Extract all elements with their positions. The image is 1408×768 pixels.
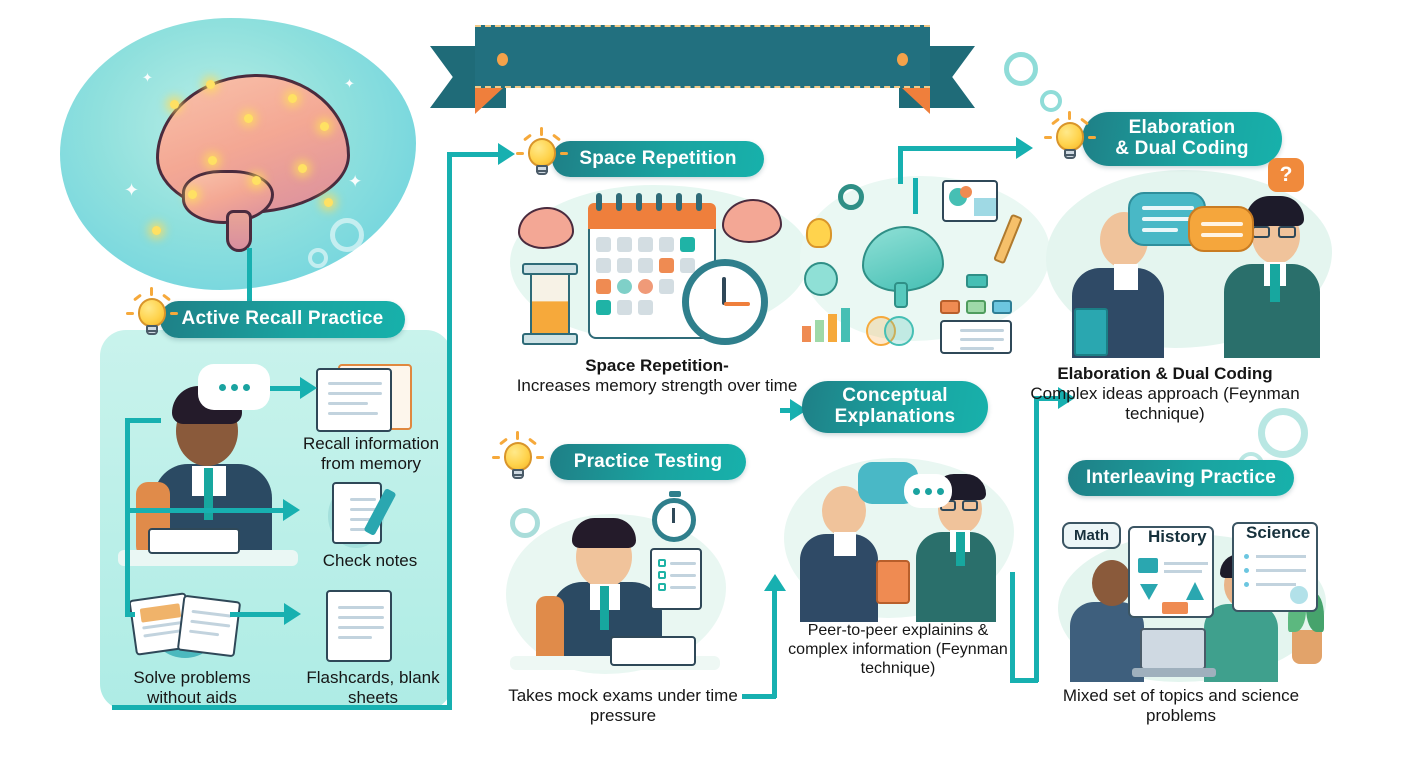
pill-interleaving-label: Interleaving Practice <box>1086 468 1276 488</box>
connector-left-to-mid-v <box>447 152 452 710</box>
connector-top-to-concept <box>913 178 918 214</box>
connector-bubble-to-doc <box>270 386 302 391</box>
space-repetition-illustration <box>500 185 820 350</box>
blank-sheet-icon <box>322 588 402 664</box>
brain-illustration: ✦ ✦ ✦ ✦ <box>148 60 358 255</box>
caption-recall-information: Recall information from memory <box>296 434 446 474</box>
pill-elaboration-dual-coding[interactable]: Elaboration & Dual Coding <box>1082 112 1282 166</box>
subject-tag-science[interactable]: Science <box>1236 520 1320 546</box>
arrow-to-notes-doc <box>300 377 317 399</box>
subject-tag-math[interactable]: Math <box>1062 522 1121 549</box>
arrow-to-flashcards <box>284 603 301 625</box>
paper-stack-icon <box>130 592 248 664</box>
title-ribbon <box>430 18 975 110</box>
lightbulb-icon-active-recall <box>132 294 172 338</box>
caption-elaboration-rest: Complex ideas approach (Feynman techniqu… <box>1030 384 1299 423</box>
caption-check-notes: Check notes <box>304 551 436 571</box>
caption-space-repetition-bold: Space Repetition- <box>585 356 729 375</box>
caption-conceptual-explanations: Peer-to-peer explainins & complex inform… <box>788 622 1008 679</box>
connector-concept-to-elab-h <box>898 146 1022 151</box>
lightbulb-icon-elaboration <box>1050 118 1090 162</box>
connector-left-spine <box>125 418 130 614</box>
ribbon-banner-body <box>475 25 930 88</box>
connector-left-top <box>125 418 161 423</box>
lightbulb-icon-practice-testing <box>498 438 538 482</box>
connector-to-interleaving-v <box>1010 572 1015 682</box>
speech-bubble-icon-dots <box>904 474 952 508</box>
gear-icon <box>330 218 364 252</box>
pill-conceptual-explanations[interactable]: Conceptual Explanations <box>802 381 988 433</box>
question-mark-badge: ? <box>1268 158 1304 192</box>
pill-space-repetition-label: Space Repetition <box>579 149 736 169</box>
practice-testing-illustration <box>500 490 730 680</box>
gear-icon-elab-2 <box>1040 90 1062 112</box>
connector-testing-to-concept-v <box>772 590 777 698</box>
caption-elaboration-bold: Elaboration & Dual Coding <box>1057 364 1272 383</box>
connector-left-mid <box>125 508 285 513</box>
pill-space-repetition[interactable]: Space Repetition <box>552 141 764 177</box>
pill-interleaving-practice[interactable]: Interleaving Practice <box>1068 460 1294 496</box>
arrow-up-to-conceptual <box>764 574 786 591</box>
pill-conceptual-line1: Conceptual <box>842 386 947 407</box>
caption-solve-problems: Solve problems without aids <box>112 668 272 708</box>
connector-testing-to-concept-h <box>742 694 776 699</box>
caption-interleaving: Mixed set of topics and science problems <box>1046 686 1316 726</box>
notes-doc-icon <box>310 362 420 436</box>
arrow-to-space-repetition <box>498 143 515 165</box>
pill-practice-testing[interactable]: Practice Testing <box>550 444 746 480</box>
peer-explaining-illustration <box>780 440 1020 620</box>
concept-map-illustration <box>790 170 1080 350</box>
caption-elaboration: Elaboration & Dual Coding Complex ideas … <box>1030 364 1300 424</box>
infographic-canvas: ✦ ✦ ✦ ✦ Active Recall Practice <box>0 0 1408 768</box>
ribbon-title-text <box>475 27 930 86</box>
pill-active-recall-practice[interactable]: Active Recall Practice <box>160 301 405 338</box>
pill-elaboration-line1: Elaboration <box>1129 118 1236 139</box>
arrow-to-elaboration <box>1016 137 1033 159</box>
pill-active-recall-label: Active Recall Practice <box>182 309 384 329</box>
caption-practice-testing: Takes mock exams under time pressure <box>508 686 738 726</box>
caption-flashcards: Flashcards, blank sheets <box>300 668 446 708</box>
gear-icon-elab-1 <box>1004 52 1038 86</box>
lightbulb-icon-space-repetition <box>522 134 562 178</box>
arrow-to-check-notes <box>283 499 300 521</box>
connector-concept-to-elab-v <box>898 146 903 184</box>
notepad-pencil-icon <box>318 478 414 550</box>
pill-elaboration-line2: & Dual Coding <box>1115 139 1248 160</box>
thought-bubble-icon <box>198 364 270 410</box>
caption-space-repetition: Space Repetition- Increases memory stren… <box>512 356 802 396</box>
subject-tag-history[interactable]: History <box>1138 524 1217 550</box>
pill-conceptual-line2: Explanations <box>835 407 956 428</box>
pill-practice-testing-label: Practice Testing <box>574 452 723 472</box>
connector-left-bottom2 <box>230 612 286 617</box>
connector-right-spine <box>1034 396 1039 682</box>
caption-space-repetition-rest: Increases memory strength over time <box>517 376 798 395</box>
gear-icon-small <box>308 248 328 268</box>
speech-bubble-icon-orange <box>1188 206 1254 252</box>
lightbulb-icon-concept <box>806 218 832 248</box>
gear-icon-concept <box>838 184 864 210</box>
connector-left-bottom <box>125 612 135 617</box>
connector-into-space-rep <box>447 152 502 157</box>
